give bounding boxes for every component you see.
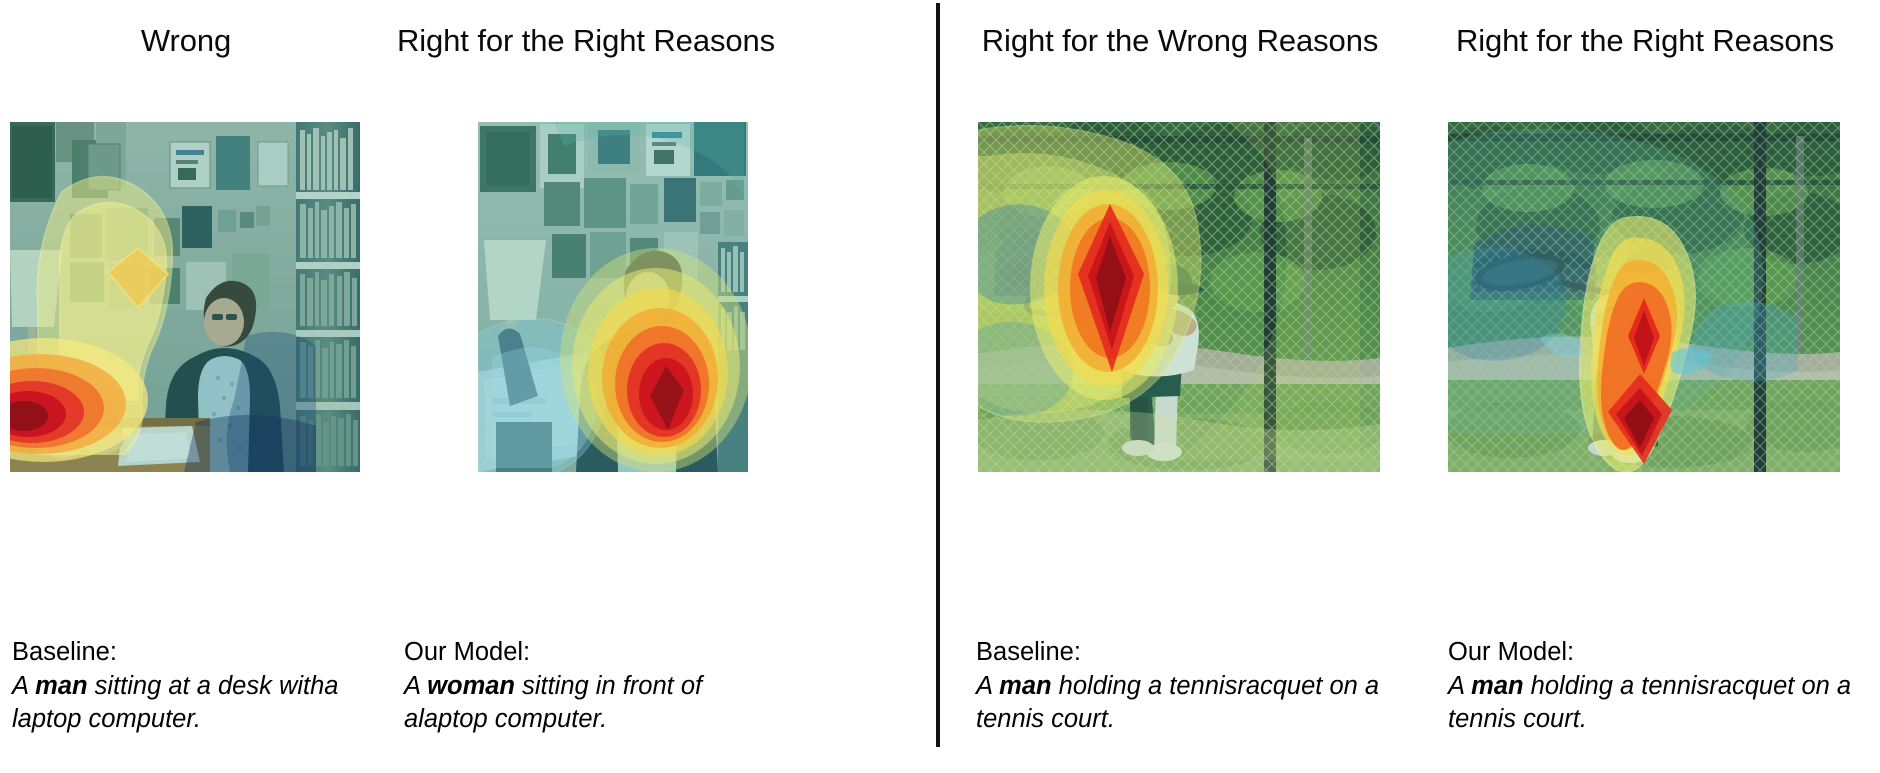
caption-source-1: Baseline: [12, 636, 364, 669]
heatmap-image-1 [10, 122, 360, 472]
panel-header-4: Right for the Right Reasons [1410, 22, 1880, 59]
caption-pre-3: A [976, 672, 999, 700]
caption-bold-1: man [35, 672, 87, 700]
panel-header-1: Wrong [0, 22, 372, 59]
caption-source-2: Our Model: [404, 636, 772, 669]
caption-bold-3: man [999, 672, 1051, 700]
caption-source-3: Baseline: [976, 636, 1394, 669]
panel-wrong: Wrong [0, 0, 372, 773]
caption-3: Baseline: A man holding a tennisracquet … [976, 636, 1394, 736]
heatmap-image-3 [978, 122, 1380, 472]
panel-right-right-right-group: Right for the Right Reasons [1410, 0, 1880, 773]
panel-header-2: Right for the Right Reasons [396, 22, 776, 59]
heatmap-image-2 [478, 122, 748, 472]
caption-sentence-3: A man holding a tennisracquet on a tenni… [976, 670, 1394, 736]
panel-right-wrong: Right for the Wrong Reasons [960, 0, 1400, 773]
panel-header-3: Right for the Wrong Reasons [960, 22, 1400, 59]
attention-heatmap-1 [10, 122, 360, 472]
caption-pre-1: A [12, 672, 35, 700]
caption-source-4: Our Model: [1448, 636, 1868, 669]
caption-4: Our Model: A man holding a tennisracquet… [1448, 636, 1868, 736]
caption-sentence-1: A man sitting at a desk witha laptop com… [12, 670, 364, 736]
attention-heatmap-3 [978, 122, 1380, 472]
caption-pre-2: A [404, 672, 427, 700]
attention-heatmap-2 [478, 122, 748, 472]
caption-sentence-2: A woman sitting in front of alaptop comp… [404, 670, 772, 736]
caption-post-3: holding a tennis [1052, 672, 1238, 700]
group-divider [936, 3, 940, 747]
caption-bold-2: woman [427, 672, 515, 700]
attention-heatmap-4 [1448, 122, 1840, 472]
caption-pre-4: A [1448, 672, 1471, 700]
caption-line2-2: laptop computer. [418, 705, 607, 733]
caption-post-4: holding a tennis [1524, 672, 1710, 700]
figure-root: Wrong [0, 0, 1880, 773]
caption-1: Baseline: A man sitting at a desk witha … [12, 636, 364, 736]
caption-2: Our Model: A woman sitting in front of a… [404, 636, 772, 736]
panel-right-right-left-group: Right for the Right Reasons [396, 0, 776, 773]
heatmap-image-4 [1448, 122, 1840, 472]
caption-post-1: sitting at a desk with [88, 672, 325, 700]
caption-bold-4: man [1471, 672, 1523, 700]
caption-sentence-4: A man holding a tennisracquet on a tenni… [1448, 670, 1868, 736]
